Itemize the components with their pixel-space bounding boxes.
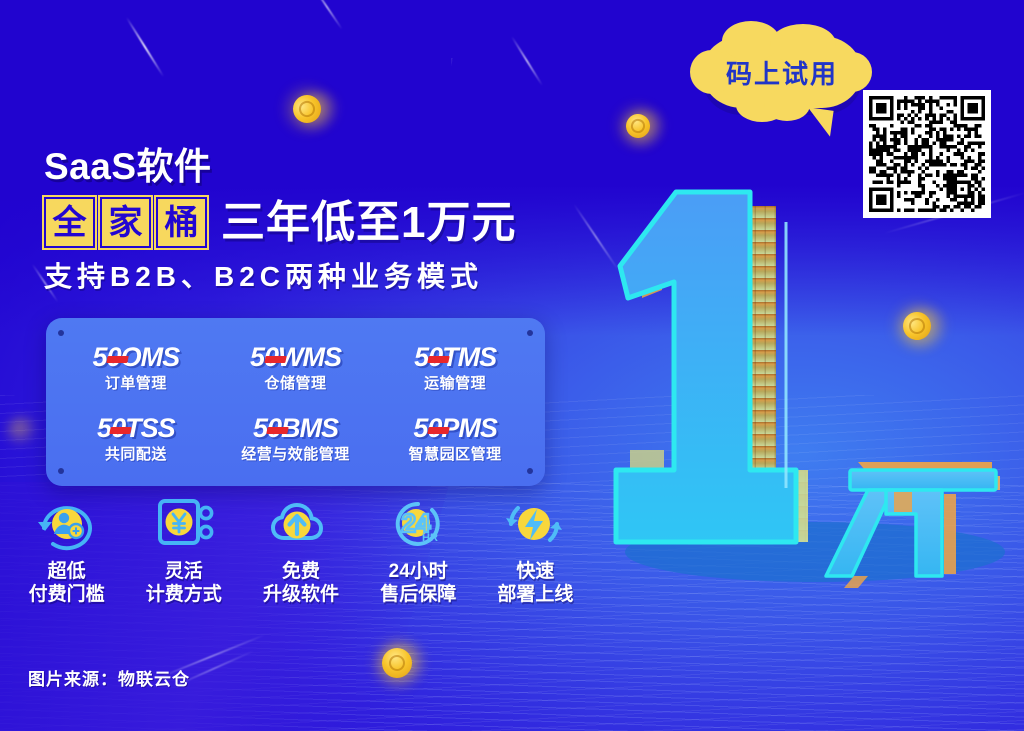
product-code: 50PMS xyxy=(413,415,497,442)
headline-block: SaaS软件 全 家 桶 三年低至1万元 支持B2B、B2C两种业务模式 xyxy=(44,148,604,293)
feature-label-line1: 快速 xyxy=(497,560,573,583)
feature-item: 灵活计费方式 xyxy=(125,494,242,606)
product-item: 50TSS共同配送 xyxy=(56,415,216,462)
boxed-char-2: 家 xyxy=(100,197,151,248)
feature-label: 24小时售后保障 xyxy=(380,560,456,606)
product-code: 50TMS xyxy=(414,344,496,371)
headline-subtitle: 支持B2B、B2C两种业务模式 xyxy=(44,262,604,293)
feature-item: 快速部署上线 xyxy=(477,494,594,606)
feature-label-line2: 付费门槛 xyxy=(29,583,105,606)
product-item: 50WMS仓储管理 xyxy=(216,344,376,391)
feature-label-line2: 售后保障 xyxy=(380,583,456,606)
svg-text:HR: HR xyxy=(422,532,438,544)
image-source-credit: 图片来源：物联云仓 xyxy=(28,665,190,690)
feature-label-line2: 升级软件 xyxy=(263,583,339,606)
feature-label-line1: 灵活 xyxy=(146,560,222,583)
feature-label-line2: 部署上线 xyxy=(497,583,573,606)
product-code-strike xyxy=(427,356,449,363)
hero-number-graphic xyxy=(600,170,1024,590)
product-code: 50TSS xyxy=(97,415,175,442)
product-code: 50OMS xyxy=(93,344,180,371)
try-now-bubble[interactable]: 码上试用 xyxy=(702,36,862,108)
bubble-tail xyxy=(790,105,833,136)
feature-item: 超低付费门槛 xyxy=(8,494,125,606)
product-item: 50PMS智慧园区管理 xyxy=(375,415,535,462)
feature-label: 超低付费门槛 xyxy=(29,560,105,606)
yen-billing-icon xyxy=(151,494,217,554)
product-item: 50TMS运输管理 xyxy=(375,344,535,391)
boxed-char-1: 全 xyxy=(44,197,95,248)
feature-item: 免费升级软件 xyxy=(242,494,359,606)
product-name: 共同配送 xyxy=(56,447,216,462)
product-item: 50OMS订单管理 xyxy=(56,344,216,391)
product-code-strike xyxy=(427,427,449,434)
boxed-char-3: 桶 xyxy=(156,197,207,248)
user-refresh-icon xyxy=(34,494,100,554)
promo-banner: SaaS软件 全 家 桶 三年低至1万元 支持B2B、B2C两种业务模式 50O… xyxy=(0,0,1024,731)
product-grid: 50OMS订单管理50WMS仓储管理50TMS运输管理50TSS共同配送50BM… xyxy=(56,332,535,474)
product-code-strike xyxy=(265,356,287,363)
headline-main: 三年低至1万元 xyxy=(221,201,516,245)
feature-label-line1: 免费 xyxy=(263,560,339,583)
boxed-word: 全 家 桶 xyxy=(44,197,207,248)
bubble-label: 码上试用 xyxy=(702,36,862,108)
feature-label: 灵活计费方式 xyxy=(146,560,222,606)
product-code: 50WMS xyxy=(250,344,341,371)
coin-glow xyxy=(6,416,40,446)
product-panel: 50OMS订单管理50WMS仓储管理50TMS运输管理50TSS共同配送50BM… xyxy=(46,318,545,486)
product-name: 智慧园区管理 xyxy=(375,447,535,462)
product-code-strike xyxy=(267,427,289,434)
cloud-upgrade-icon xyxy=(268,494,334,554)
product-name: 运输管理 xyxy=(375,376,535,391)
product-item: 50BMS经营与效能管理 xyxy=(216,415,376,462)
24hr-support-icon: 24 HR xyxy=(385,494,451,554)
feature-label: 快速部署上线 xyxy=(497,560,573,606)
feature-label-line1: 超低 xyxy=(29,560,105,583)
product-name: 经营与效能管理 xyxy=(216,447,376,462)
product-code-strike xyxy=(107,356,129,363)
product-name: 仓储管理 xyxy=(216,376,376,391)
feature-label-line2: 计费方式 xyxy=(146,583,222,606)
product-code-strike xyxy=(109,427,131,434)
headline-main-row: 全 家 桶 三年低至1万元 xyxy=(44,197,604,248)
product-name: 订单管理 xyxy=(56,376,216,391)
feature-list: 超低付费门槛 灵活计费方式 免费升级软件 24 HR 24小时售后保障 xyxy=(8,494,594,606)
feature-item: 24 HR 24小时售后保障 xyxy=(360,494,477,606)
lightning-deploy-icon xyxy=(502,494,568,554)
product-code: 50BMS xyxy=(253,415,338,442)
headline-eyebrow: SaaS软件 xyxy=(44,148,604,185)
feature-label: 免费升级软件 xyxy=(263,560,339,606)
feature-label-line1: 24小时 xyxy=(380,560,456,583)
